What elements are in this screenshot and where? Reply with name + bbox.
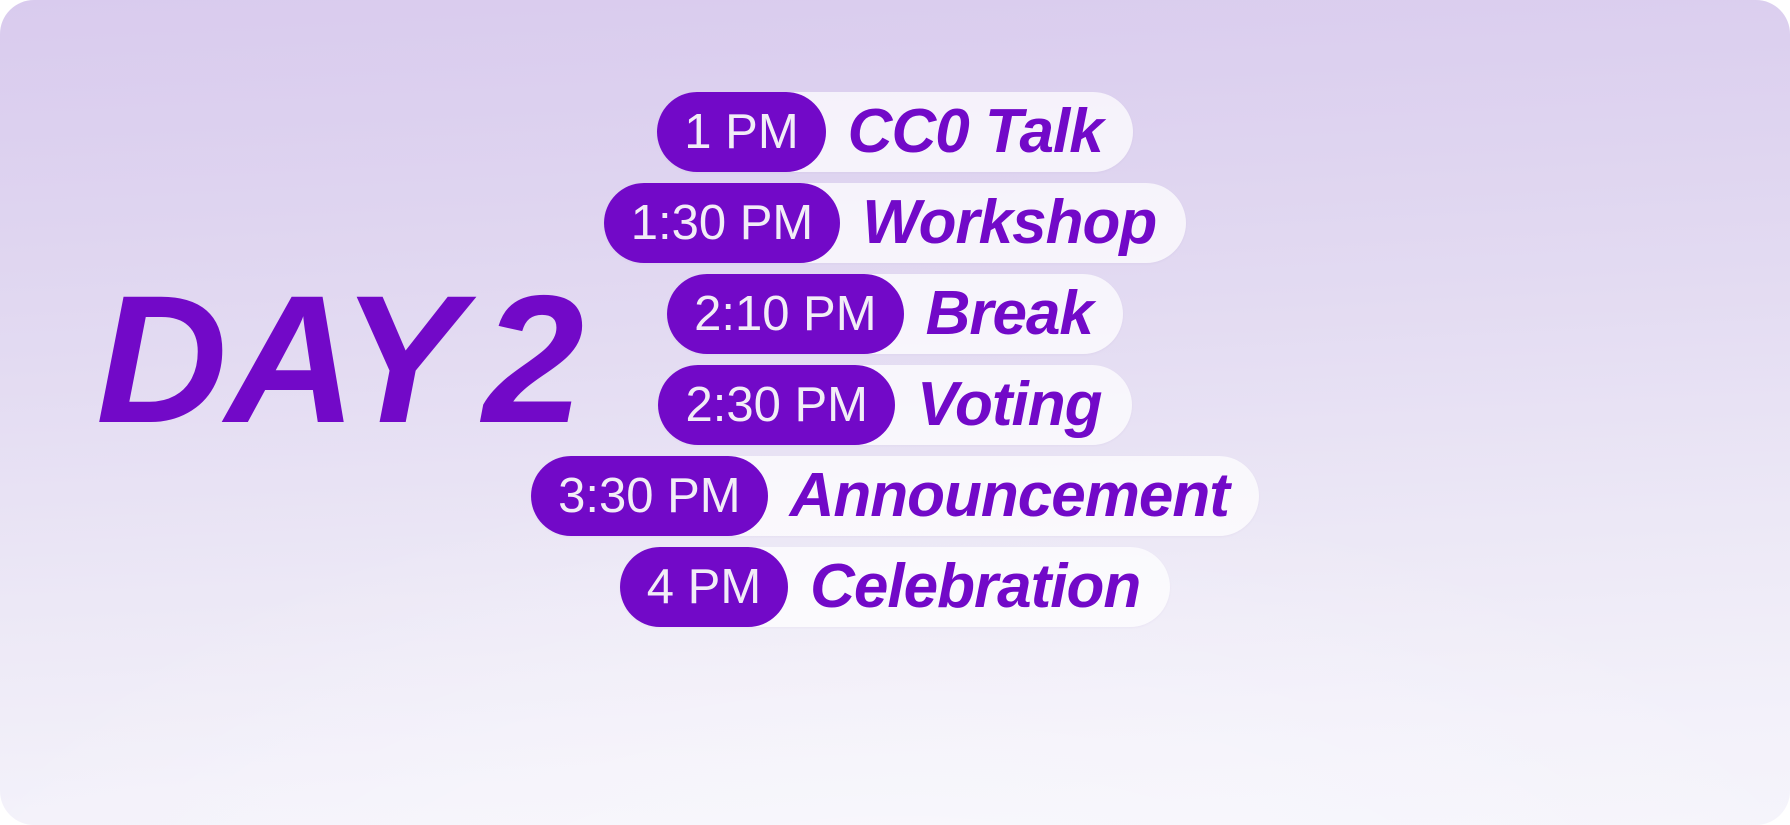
- schedule-row-capsule[interactable]: 4 PM Celebration: [620, 547, 1170, 627]
- schedule-event-label: Workshop: [862, 192, 1156, 254]
- schedule-time-badge: 1 PM: [657, 92, 825, 172]
- schedule-row[interactable]: 1 PM CC0 Talk: [0, 92, 1790, 183]
- schedule-event-label: Voting: [917, 374, 1102, 436]
- schedule-time-badge: 2:10 PM: [667, 274, 903, 354]
- schedule-time-badge: 1:30 PM: [604, 183, 840, 263]
- schedule-event-label: Announcement: [790, 465, 1229, 527]
- schedule-row-capsule[interactable]: 1:30 PM Workshop: [604, 183, 1186, 263]
- schedule-row-capsule[interactable]: 2:10 PM Break: [667, 274, 1123, 354]
- schedule-row-capsule[interactable]: 1 PM CC0 Talk: [657, 92, 1132, 172]
- day-schedule-poster: DAY2 1 PM CC0 Talk 1:30 PM Workshop 2:10…: [0, 0, 1790, 825]
- schedule-time-badge: 2:30 PM: [658, 365, 894, 445]
- schedule-event-label: Break: [926, 283, 1093, 345]
- schedule-time-badge: 3:30 PM: [531, 456, 767, 536]
- schedule-row-capsule[interactable]: 2:30 PM Voting: [658, 365, 1131, 445]
- schedule-event-label: Celebration: [810, 556, 1140, 618]
- page-title-word: DAY: [96, 268, 461, 450]
- page-title: DAY2: [96, 268, 582, 450]
- schedule-row[interactable]: 4 PM Celebration: [0, 547, 1790, 638]
- schedule-time-badge: 4 PM: [620, 547, 788, 627]
- page-title-number: 2: [483, 268, 582, 450]
- schedule-event-label: CC0 Talk: [848, 101, 1103, 163]
- schedule-row-capsule[interactable]: 3:30 PM Announcement: [531, 456, 1259, 536]
- schedule-row[interactable]: 3:30 PM Announcement: [0, 456, 1790, 547]
